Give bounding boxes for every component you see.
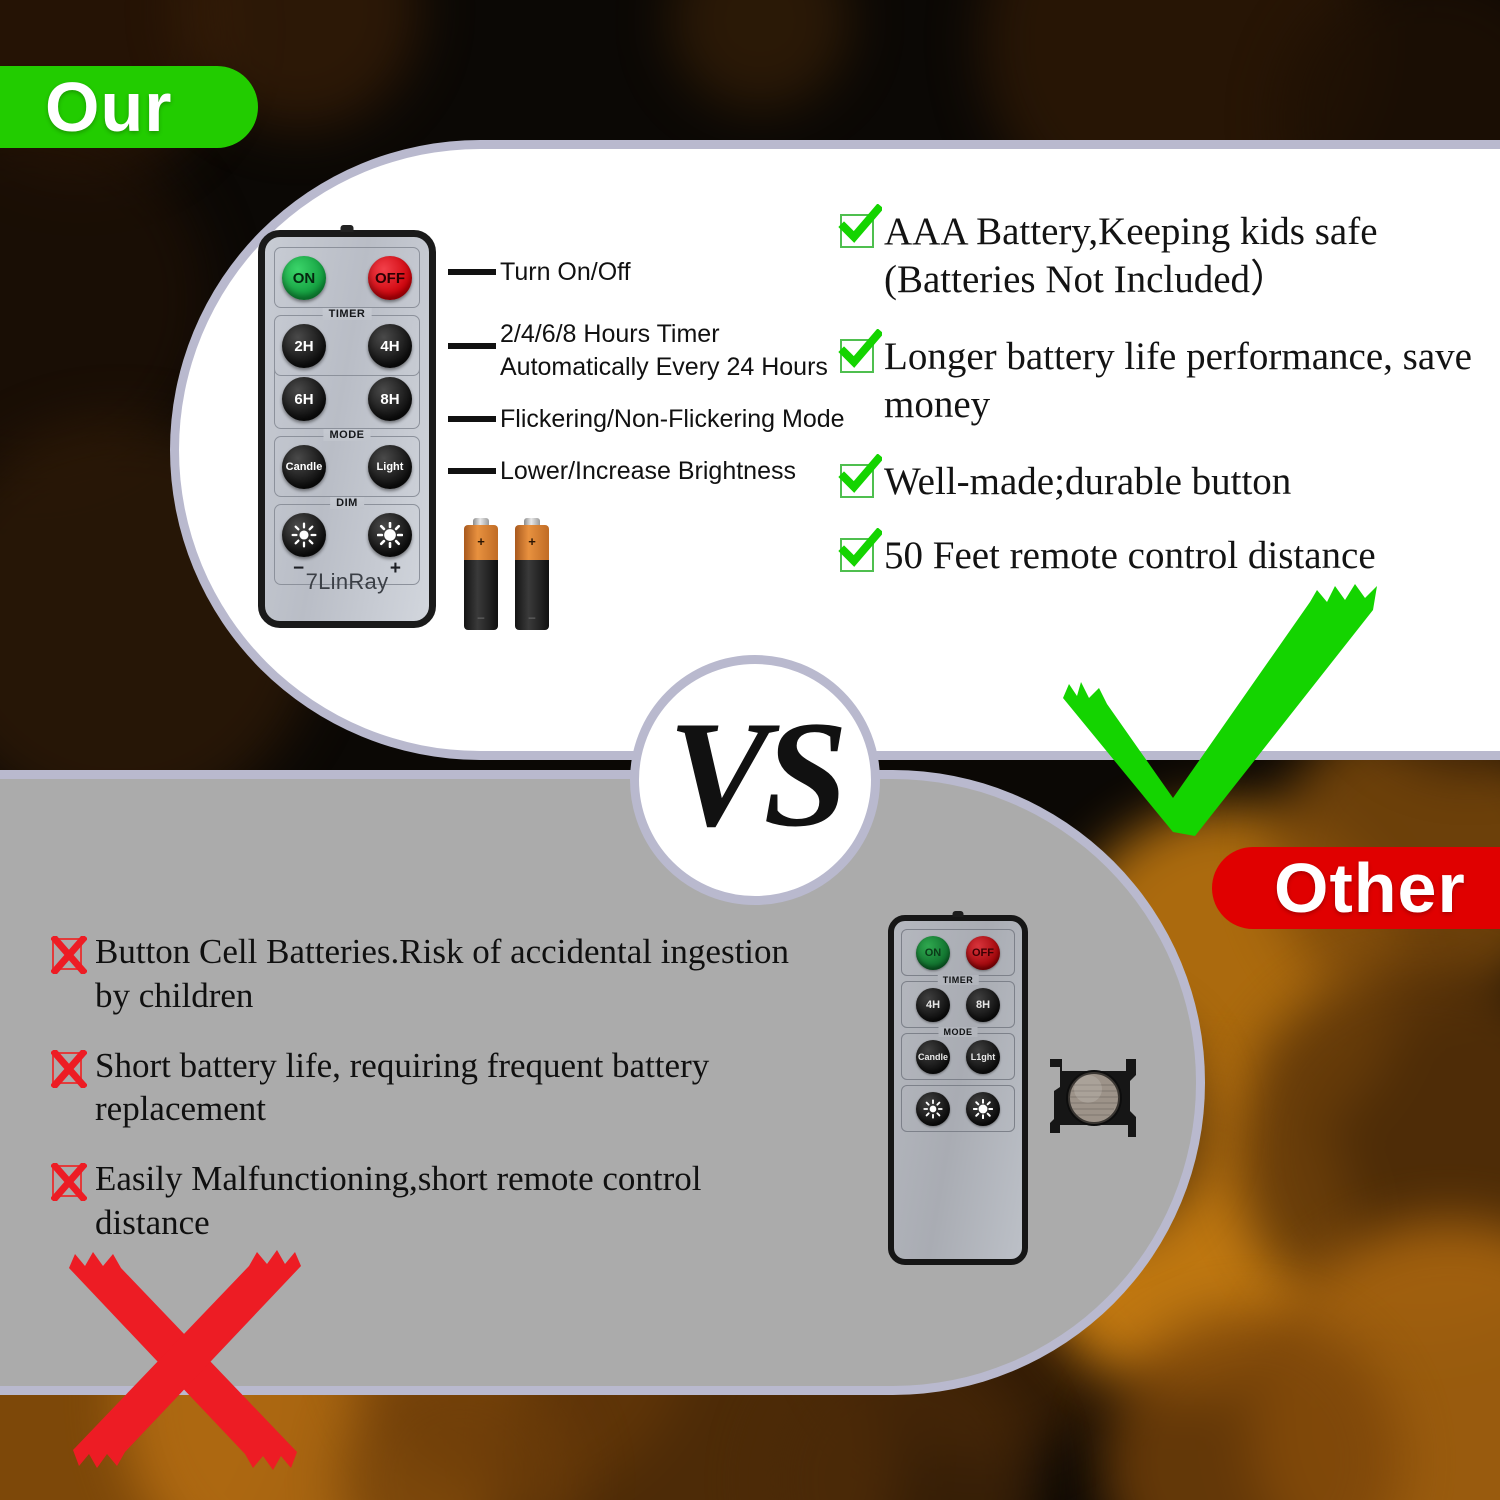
vs-badge: VS	[630, 655, 880, 905]
big-check-mark-icon	[1055, 580, 1395, 845]
pros-list: AAA Battery,Keeping kids safe (Batteries…	[840, 208, 1500, 605]
big-cross-mark-icon	[55, 1240, 315, 1495]
pro-text: AAA Battery,Keeping kids safe (Batteries…	[884, 208, 1500, 303]
other-dim-down-button[interactable]	[916, 1092, 950, 1126]
coin-cell-battery	[1048, 1045, 1143, 1150]
annotation-2: 2/4/6/8 Hours Timer Automatically Every …	[500, 318, 828, 384]
check-icon	[840, 538, 874, 572]
off-button[interactable]: OFF	[368, 256, 412, 300]
mode-group-label: MODE	[324, 429, 371, 441]
other-dim-group	[901, 1085, 1015, 1132]
other-candle-button[interactable]: Candle	[916, 1040, 950, 1074]
other-off-button[interactable]: OFF	[966, 936, 1000, 970]
other-mode-label: MODE	[939, 1027, 978, 1037]
annotation-1: Turn On/Off	[500, 256, 631, 289]
annotation-4: Lower/Increase Brightness	[500, 455, 796, 488]
brightness-low-icon	[923, 1099, 943, 1119]
check-icon	[840, 214, 874, 248]
cross-icon	[52, 1052, 82, 1084]
pro-item: AAA Battery,Keeping kids safe (Batteries…	[840, 208, 1500, 303]
timer-2h-button[interactable]: 2H	[282, 324, 326, 368]
pro-item: Well-made;durable button	[840, 458, 1500, 506]
leader-line-2	[448, 343, 496, 349]
battery-plus-label: +	[464, 534, 498, 549]
con-text: Short battery life, requiring frequent b…	[95, 1044, 812, 1132]
check-icon	[840, 464, 874, 498]
dim-group-label: DIM	[330, 497, 364, 509]
check-icon	[840, 339, 874, 373]
pro-item: 50 Feet remote control distance	[840, 532, 1500, 580]
candle-mode-button[interactable]: Candle	[282, 445, 326, 489]
battery-minus-label: –	[515, 610, 549, 624]
annotation-3: Flickering/Non-Flickering Mode	[500, 403, 845, 436]
brightness-high-icon	[973, 1099, 993, 1119]
other-timer-4h-button[interactable]: 4H	[916, 988, 950, 1022]
con-text: Button Cell Batteries.Risk of accidental…	[95, 930, 812, 1018]
timer-6h-button[interactable]: 6H	[282, 377, 326, 421]
other-on-button[interactable]: ON	[916, 936, 950, 970]
other-timer-8h-button[interactable]: 8H	[966, 988, 1000, 1022]
timer-group-row1: TIMER 2H 4H	[274, 315, 420, 376]
timer-4h-button[interactable]: 4H	[368, 324, 412, 368]
light-mode-button[interactable]: Light	[368, 445, 412, 489]
leader-line-3	[448, 416, 496, 422]
con-item: Short battery life, requiring frequent b…	[52, 1044, 812, 1132]
pro-text: Well-made;durable button	[884, 458, 1291, 506]
brightness-high-icon	[377, 522, 403, 548]
leader-line-4	[448, 468, 496, 474]
other-timer-group: TIMER 4H 8H	[901, 981, 1015, 1028]
cross-icon	[52, 1165, 82, 1197]
cross-icon	[52, 938, 82, 970]
on-button[interactable]: ON	[282, 256, 326, 300]
other-mode-group: MODE Candle L1ght	[901, 1033, 1015, 1080]
other-remote-control: ON OFF TIMER 4H 8H MODE Candle L1ght	[888, 915, 1028, 1265]
timer-8h-button[interactable]: 8H	[368, 377, 412, 421]
aaa-battery-1: + –	[464, 518, 498, 630]
other-timer-label: TIMER	[938, 975, 979, 985]
con-item: Easily Malfunctioning,short remote contr…	[52, 1157, 812, 1245]
dim-up-button[interactable]	[368, 513, 412, 557]
power-group: ON OFF	[274, 247, 420, 308]
leader-line-1	[448, 269, 496, 275]
pro-item: Longer battery life performance, save mo…	[840, 333, 1500, 428]
pro-text: Longer battery life performance, save mo…	[884, 333, 1500, 428]
vs-label: VS	[668, 687, 842, 861]
other-badge: Other	[1212, 847, 1500, 929]
our-remote-control: ON OFF TIMER 2H 4H 6H 8H MODE Candle Lig…	[258, 230, 436, 628]
remote-brand-label: 7LinRay	[265, 569, 429, 595]
aaa-battery-2: + –	[515, 518, 549, 630]
con-item: Button Cell Batteries.Risk of accidental…	[52, 930, 812, 1018]
dim-down-button[interactable]	[282, 513, 326, 557]
other-light-button[interactable]: L1ght	[966, 1040, 1000, 1074]
timer-group-label: TIMER	[323, 308, 372, 320]
our-badge: Our	[0, 66, 258, 148]
bokeh-light	[670, 0, 850, 110]
mode-group: MODE Candle Light	[274, 436, 420, 497]
timer-group-row2: 6H 8H	[274, 369, 420, 429]
battery-plus-label: +	[515, 534, 549, 549]
battery-minus-label: –	[464, 610, 498, 624]
other-power-group: ON OFF	[901, 929, 1015, 976]
cons-list: Button Cell Batteries.Risk of accidental…	[52, 930, 812, 1271]
pro-text: 50 Feet remote control distance	[884, 532, 1376, 580]
other-dim-up-button[interactable]	[966, 1092, 1000, 1126]
brightness-low-icon	[291, 522, 317, 548]
con-text: Easily Malfunctioning,short remote contr…	[95, 1157, 812, 1245]
